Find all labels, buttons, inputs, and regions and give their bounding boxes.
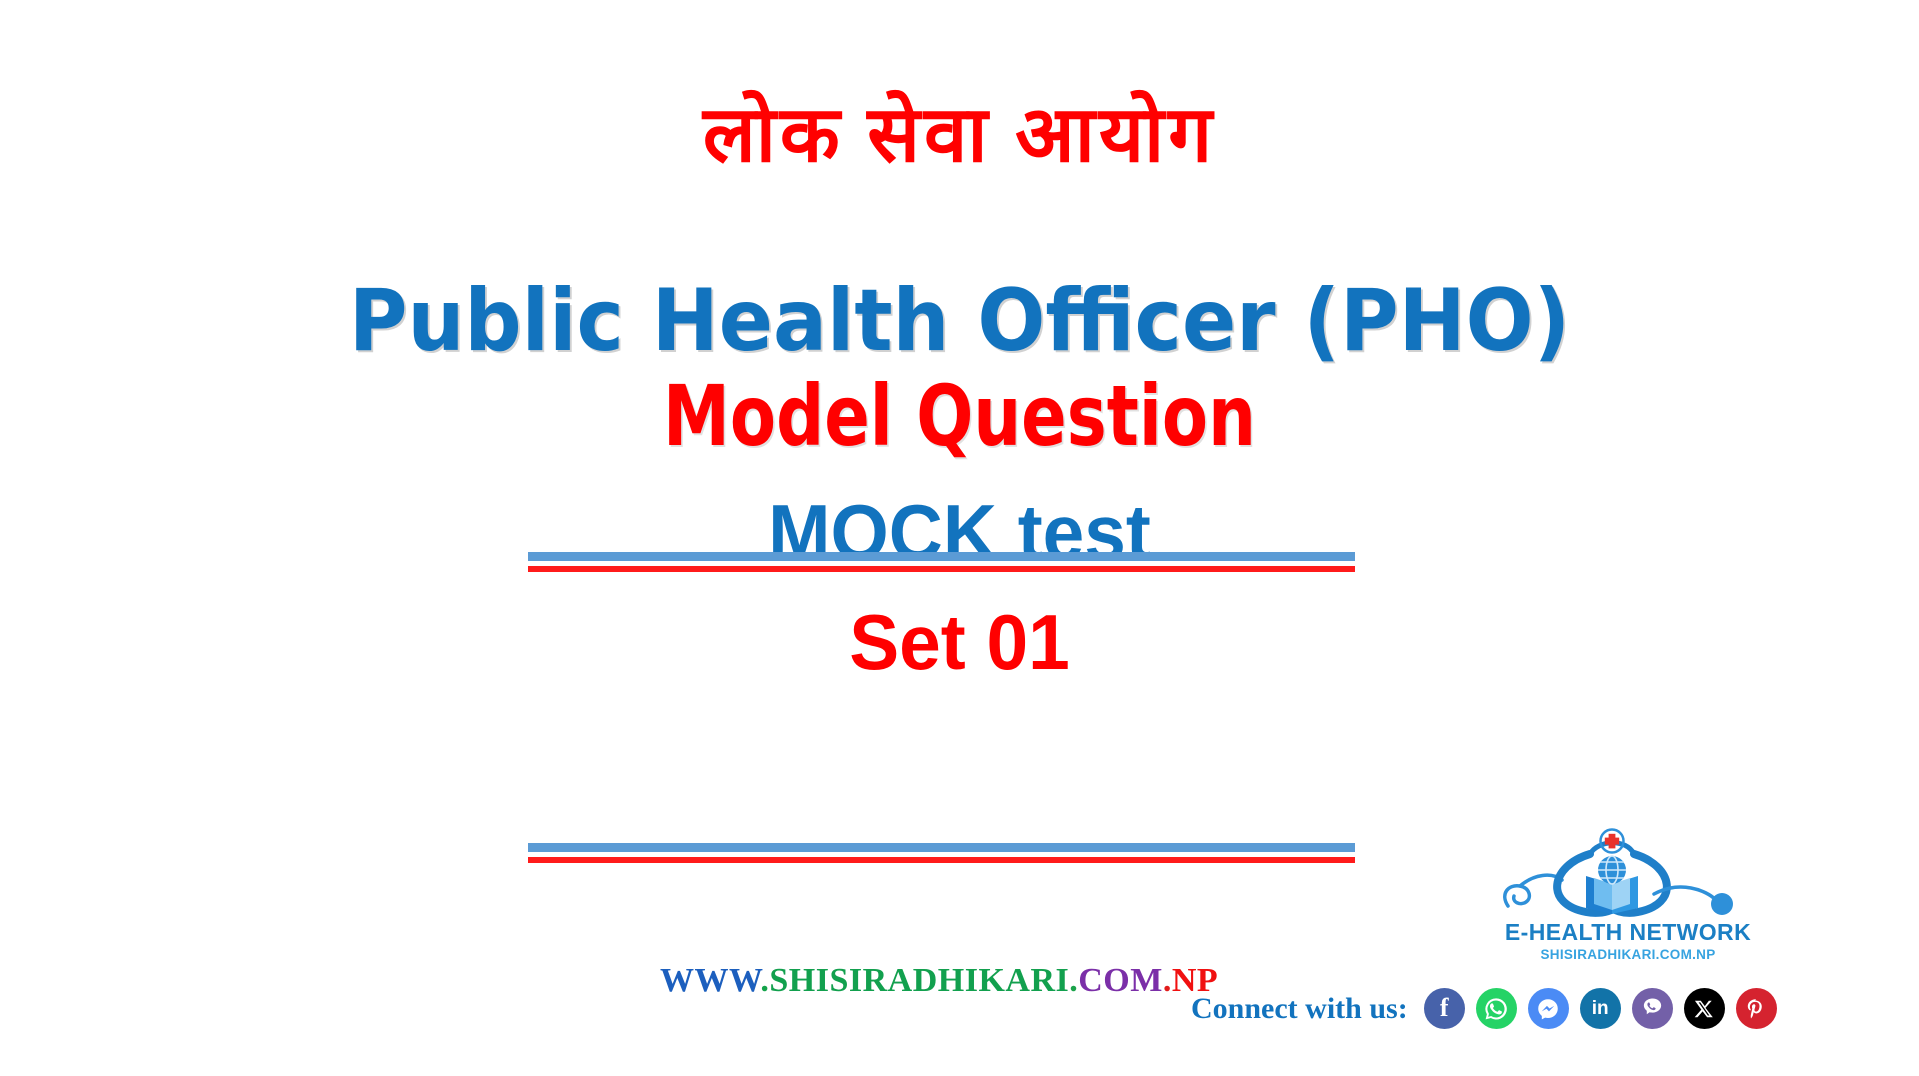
brand-logo: E-HEALTH NETWORK SHISIRADHIKARI.COM.NP [1494, 828, 1762, 958]
divider-blue-bar [528, 552, 1355, 561]
model-question-title: Model Question [192, 374, 1727, 460]
url-tld-com: COM [1078, 962, 1163, 999]
url-www: WWW [660, 962, 760, 999]
viber-icon[interactable] [1632, 988, 1673, 1029]
url-domain-2: RADHIKARI [863, 962, 1070, 999]
divider-red-bar [528, 857, 1355, 863]
ehealth-network-logo-icon [1494, 828, 1762, 920]
website-url: WWW.SHISIRADHIKARI.COM.NP [660, 964, 1218, 998]
poster-canvas: लोक सेवा आयोग Public Health Officer (PHO… [0, 0, 1919, 1076]
connect-with-us-bar: Connect with us: f in [1191, 988, 1777, 1029]
x-twitter-icon[interactable] [1684, 988, 1725, 1029]
divider-top [528, 552, 1355, 574]
devanagari-title: लोक सेवा आयोग [0, 96, 1919, 174]
whatsapp-icon[interactable] [1476, 988, 1517, 1029]
divider-bottom [528, 843, 1355, 865]
linkedin-glyph: in [1592, 999, 1609, 1018]
facebook-glyph: f [1440, 995, 1449, 1021]
divider-blue-bar [528, 843, 1355, 852]
url-dot-2: . [1069, 962, 1078, 999]
messenger-icon[interactable] [1528, 988, 1569, 1029]
headline-stack: Public Health Officer (PHO) Model Questi… [0, 278, 1919, 682]
url-domain-1: SHISI [769, 962, 862, 999]
brand-name: E-HEALTH NETWORK [1494, 921, 1762, 944]
connect-label: Connect with us: [1191, 994, 1408, 1024]
set-number-title: Set 01 [38, 603, 1880, 683]
post-title: Public Health Officer (PHO) [67, 278, 1852, 366]
divider-red-bar [528, 566, 1355, 572]
pinterest-icon[interactable] [1736, 988, 1777, 1029]
linkedin-icon[interactable]: in [1580, 988, 1621, 1029]
facebook-icon[interactable]: f [1424, 988, 1465, 1029]
url-dot-3: . [1163, 962, 1172, 999]
brand-subtitle: SHISIRADHIKARI.COM.NP [1494, 948, 1762, 962]
